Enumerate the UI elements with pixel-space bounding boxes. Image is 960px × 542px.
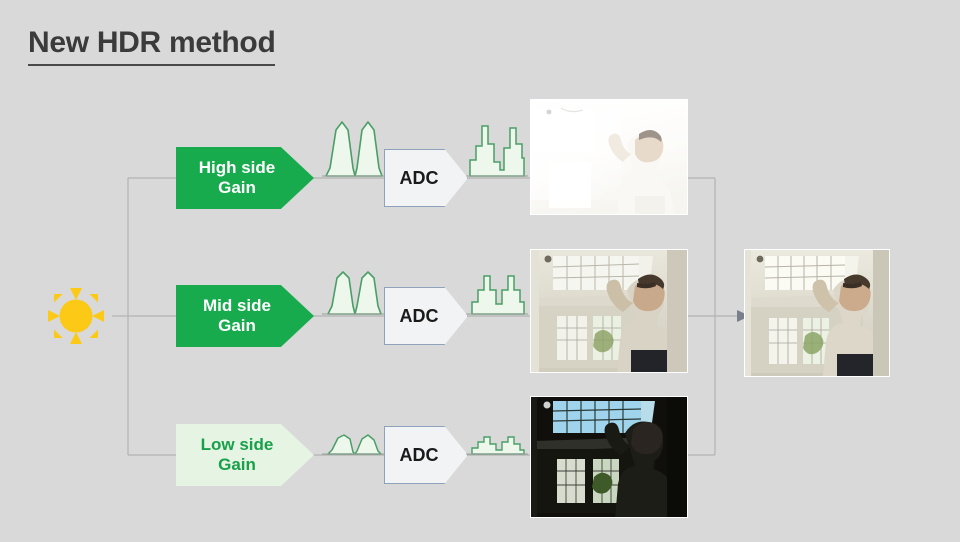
gain-label-line1: Low side: [201, 435, 274, 455]
analog-waveform-high: [322, 118, 386, 178]
analog-waveform-low: [322, 432, 386, 456]
digital-waveform-low: [466, 432, 528, 456]
hdr-merged-photo[interactable]: [744, 249, 890, 377]
gain-label-line1: High side: [199, 158, 276, 178]
adc-label: ADC: [400, 306, 439, 327]
slide-canvas: New HDR method: [0, 0, 960, 542]
gain-label-line2: Gain: [218, 178, 256, 198]
normal-exposure-photo[interactable]: [530, 249, 688, 373]
digital-waveform-high: [466, 118, 528, 178]
gain-label-line2: Gain: [218, 316, 256, 336]
gain-label-line1: Mid side: [203, 296, 271, 316]
analog-waveform-mid: [322, 268, 386, 316]
adc-label: ADC: [400, 445, 439, 466]
gain-label-line2: Gain: [218, 455, 256, 475]
digital-waveform-mid: [466, 268, 528, 316]
sun-icon: [40, 280, 112, 352]
underexposed-photo[interactable]: [530, 396, 688, 518]
adc-label: ADC: [400, 168, 439, 189]
overexposed-photo[interactable]: [530, 99, 688, 215]
